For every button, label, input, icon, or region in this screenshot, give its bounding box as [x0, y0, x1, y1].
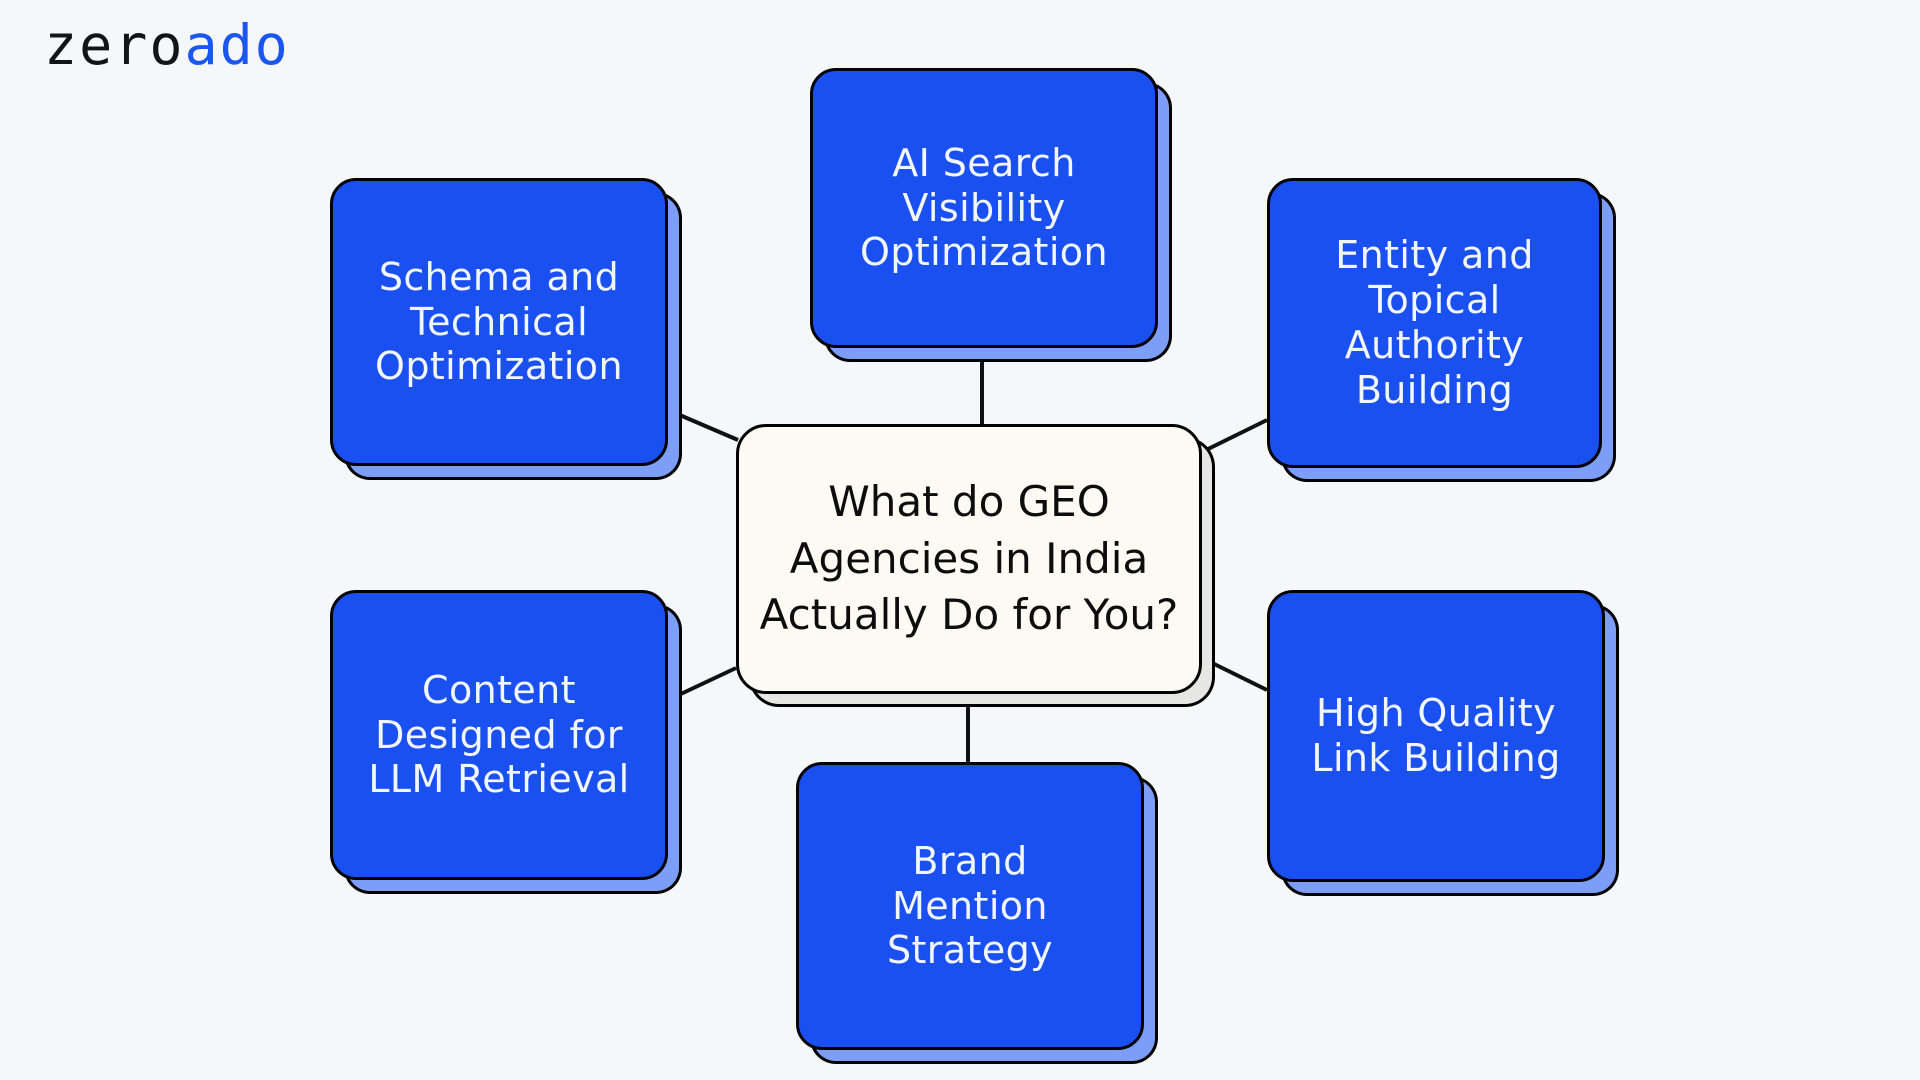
node-label: Brand Mention Strategy — [799, 839, 1141, 973]
node-brand-mention-strategy[interactable]: Brand Mention Strategy — [796, 762, 1144, 1050]
node-content-designed-for-llm-retrieval[interactable]: Content Designed for LLM Retrieval — [330, 590, 668, 880]
node-label: High Quality Link Building — [1270, 691, 1602, 781]
logo-text-accent: ado — [184, 13, 289, 77]
node-label: Content Designed for LLM Retrieval — [333, 668, 665, 802]
node-ai-search-visibility-optimization[interactable]: AI Search Visibility Optimization — [810, 68, 1158, 348]
node-high-quality-link-building[interactable]: High Quality Link Building — [1267, 590, 1605, 882]
logo-text-primary: zero — [44, 13, 184, 77]
node-schema-and-technical-optimization[interactable]: Schema and Technical Optimization — [330, 178, 668, 466]
edge-center-right — [1202, 658, 1267, 690]
node-entity-and-topical-authority-building[interactable]: Entity and Topical Authority Building — [1267, 178, 1602, 468]
diagram-canvas: zeroado AI Search Visibility Optimizatio… — [0, 0, 1920, 1080]
node-label: AI Search Visibility Optimization — [813, 141, 1155, 275]
edge-center-topright — [1202, 420, 1267, 452]
center-node-question[interactable]: What do GEO Agencies in India Actually D… — [736, 424, 1202, 694]
center-node-label: What do GEO Agencies in India Actually D… — [739, 474, 1199, 644]
edge-center-topleft — [668, 410, 738, 440]
node-label: Entity and Topical Authority Building — [1270, 233, 1599, 412]
edge-center-left — [668, 668, 736, 700]
brand-logo: zeroado — [44, 18, 290, 73]
node-label: Schema and Technical Optimization — [333, 255, 665, 389]
